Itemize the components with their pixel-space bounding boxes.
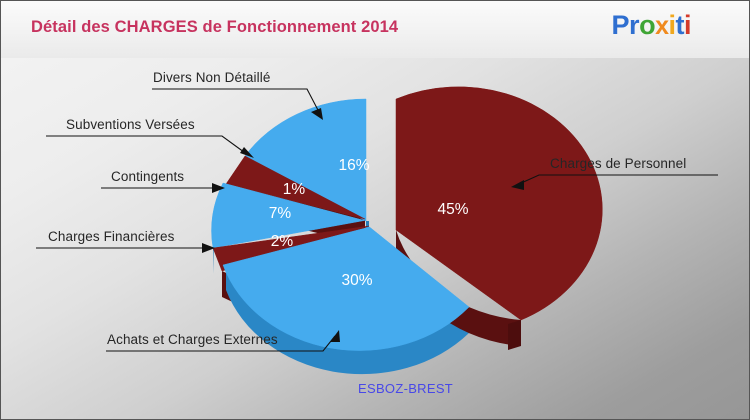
slice-label-subventions: 1%: [283, 181, 306, 198]
slice-label-achats: 30%: [341, 272, 372, 289]
callout-label-personnel: Charges de Personnel: [550, 156, 686, 171]
slice-label-contingents: 7%: [269, 205, 292, 222]
slice-label-divers: 16%: [338, 157, 369, 174]
page-title: Détail des CHARGES de Fonctionnement 201…: [31, 18, 398, 37]
logo-letter-i1: i: [668, 12, 675, 39]
callout-label-achats: Achats et Charges Externes: [107, 332, 278, 347]
logo-letter-i2: i: [684, 12, 691, 39]
callout-label-subventions: Subventions Versées: [66, 117, 195, 132]
chart-screenshot: Détail des CHARGES de Fonctionnement 201…: [0, 0, 750, 420]
callout-label-contingents: Contingents: [111, 169, 184, 184]
slice-label-personnel: 45%: [437, 201, 468, 218]
logo-letter-x: x: [655, 14, 668, 39]
logo-letter-o: o: [639, 12, 655, 39]
chart-plot-area: 16% 1% 7% 2% 30% 45%: [1, 58, 750, 419]
logo-letter-t: t: [675, 12, 684, 39]
proxiti-logo[interactable]: Proxiti: [612, 12, 691, 39]
slice-side-personnel-edge: [508, 320, 521, 350]
slice-label-financieres: 2%: [271, 233, 294, 250]
callout-label-divers: Divers Non Détaillé: [153, 70, 270, 85]
source-label: ESBOZ-BREST: [358, 381, 453, 396]
header-bar: Détail des CHARGES de Fonctionnement 201…: [1, 1, 749, 58]
logo-letter-r: r: [629, 12, 639, 39]
callout-label-financieres: Charges Financières: [48, 229, 174, 244]
logo-letter-p: P: [612, 12, 630, 39]
